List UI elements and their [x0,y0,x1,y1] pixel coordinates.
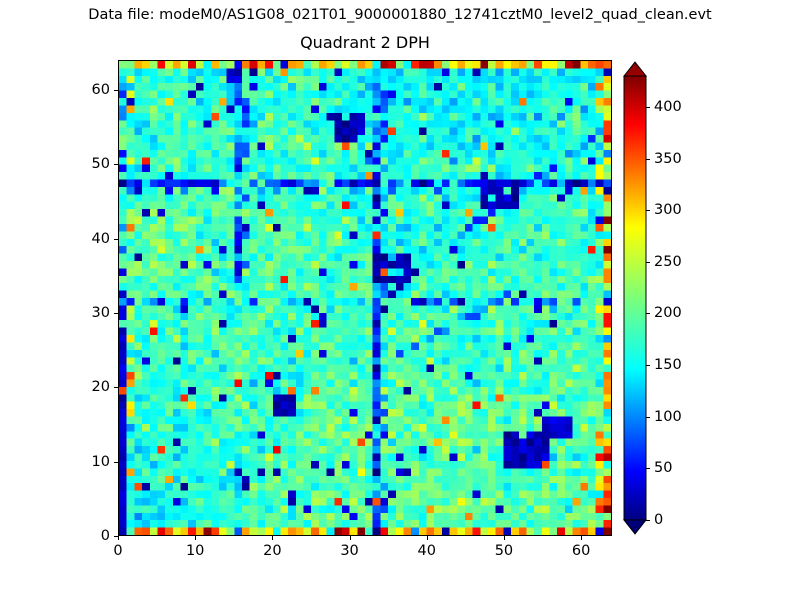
figure-suptitle: Data file: modeM0/AS1G08_021T01_90000018… [0,6,800,24]
colorbar-tick-mark [646,520,650,521]
colorbar-tick-label: 250 [654,254,682,270]
x-tick-mark [118,536,119,540]
plot-title: Quadrant 2 DPH [118,33,612,53]
y-tick-mark [114,164,118,165]
colorbar-tick-label: 300 [654,202,682,218]
colorbar-tick-label: 200 [654,305,682,321]
x-tick-mark [581,536,582,540]
colorbar-tick-label: 150 [654,357,682,373]
y-tick-mark [114,387,118,388]
colorbar-tick-label: 0 [654,512,663,528]
y-tick-label: 10 [74,454,110,470]
x-tick-mark [350,536,351,540]
x-tick-mark [504,536,505,540]
colorbar-tick-label: 400 [654,99,682,115]
colorbar-tick-mark [646,262,650,263]
detector-pixel-heatmap[interactable] [119,61,611,535]
x-tick-label: 60 [572,543,590,559]
y-tick-label: 20 [74,379,110,395]
colorbar-tick-mark [646,210,650,211]
x-tick-label: 40 [418,543,436,559]
y-tick-label: 30 [74,305,110,321]
y-tick-mark [114,313,118,314]
x-tick-label: 10 [186,543,204,559]
y-tick-mark [114,462,118,463]
colorbar-tick-label: 50 [654,460,672,476]
y-tick-mark [114,536,118,537]
x-tick-label: 30 [340,543,358,559]
y-tick-label: 40 [74,231,110,247]
y-tick-mark [114,239,118,240]
x-tick-label: 50 [495,543,513,559]
heatmap-axes[interactable] [118,60,612,536]
y-tick-label: 60 [74,82,110,98]
colorbar-tick-mark [646,417,650,418]
colorbar-tick-mark [646,107,650,108]
y-tick-mark [114,90,118,91]
colorbar-tick-mark [646,468,650,469]
colorbar[interactable]: 050100150200250300350400 [624,62,646,534]
x-tick-mark [272,536,273,540]
colorbar-tick-mark [646,313,650,314]
colorbar-tick-mark [646,365,650,366]
colorbar-tick-label: 350 [654,151,682,167]
colorbar-tick-label: 100 [654,409,682,425]
y-tick-label: 0 [74,528,110,544]
y-tick-label: 50 [74,156,110,172]
figure-canvas: Data file: modeM0/AS1G08_021T01_90000018… [0,0,800,600]
x-tick-mark [195,536,196,540]
x-tick-label: 0 [113,543,122,559]
x-tick-label: 20 [263,543,281,559]
colorbar-tick-mark [646,159,650,160]
x-tick-mark [427,536,428,540]
colorbar-gradient [624,62,646,534]
